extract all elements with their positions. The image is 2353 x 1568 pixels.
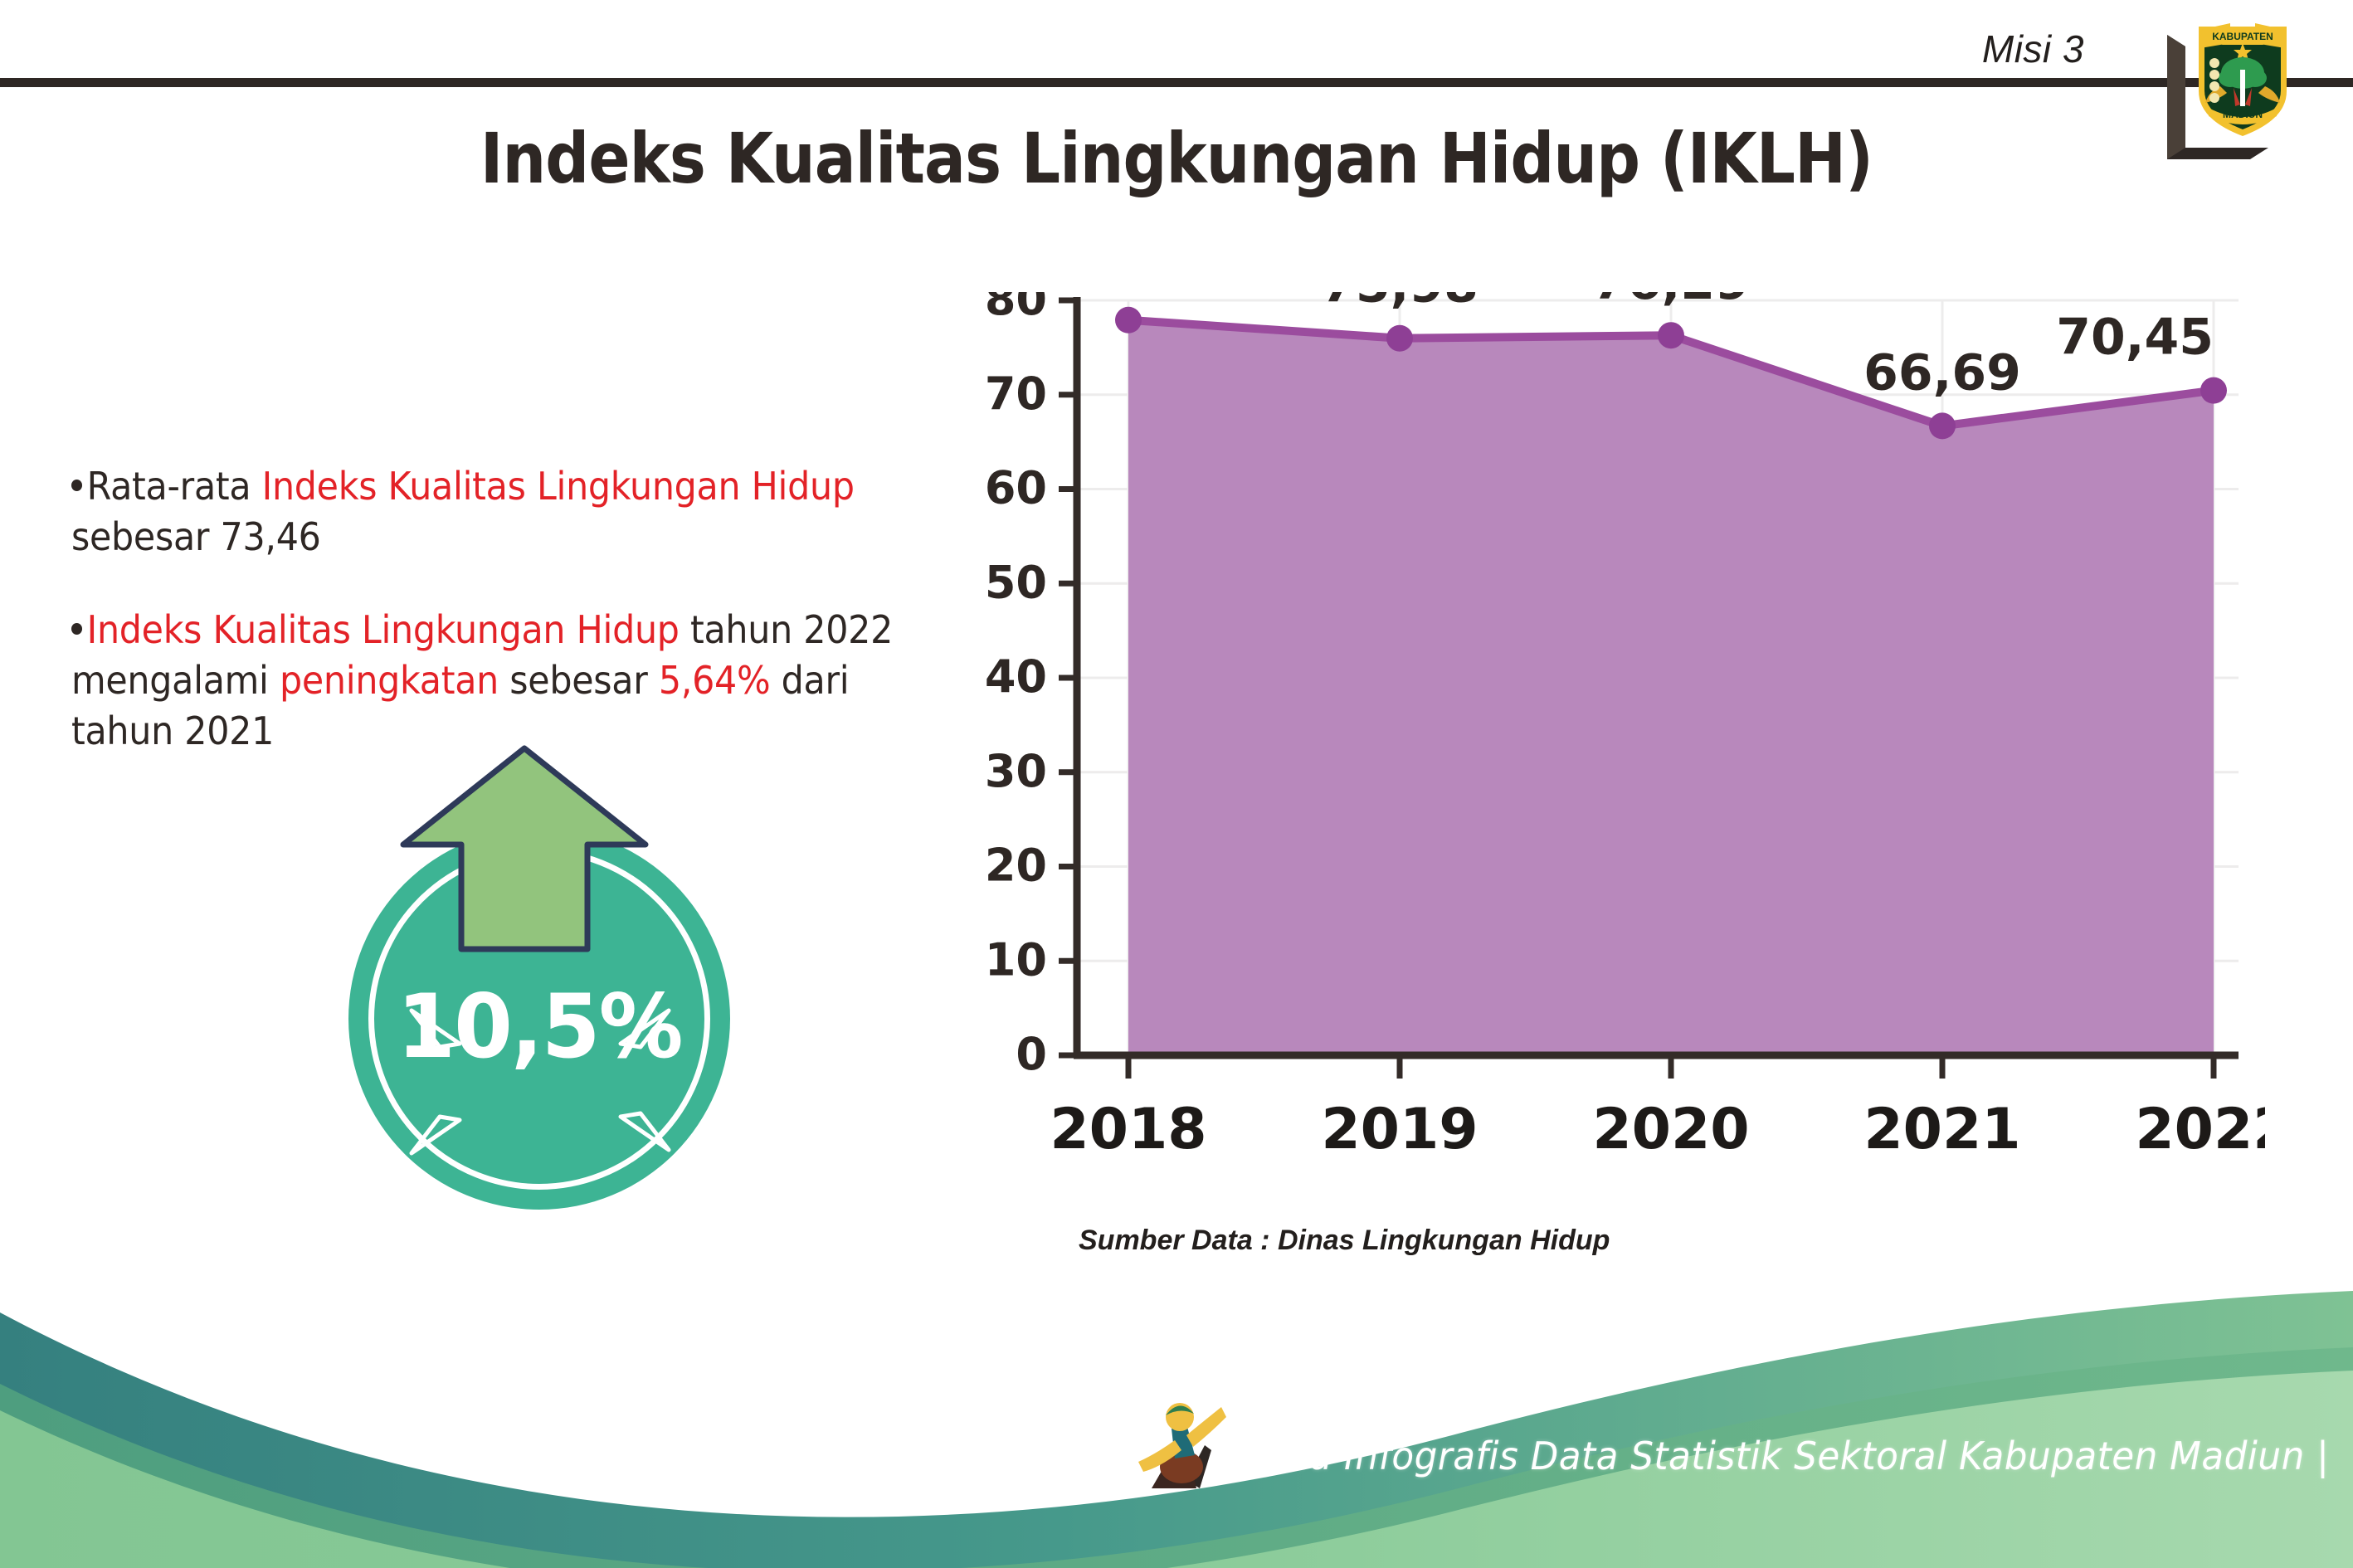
footer: Media Infografis Data Statistik Sektoral… xyxy=(0,1286,2353,1568)
statistics-figure-logo-icon xyxy=(1135,1390,1228,1508)
data-point-marker xyxy=(1115,307,1142,334)
data-label: 76,29 xyxy=(1592,292,1750,311)
bullet-text-segment: Indeks Kualitas Lingkungan Hidup xyxy=(87,607,680,652)
bullet-text-segment: 5,64% xyxy=(659,658,771,703)
x-axis-label: 2018 xyxy=(1050,1097,1206,1162)
bullet-text-segment: Indeks Kualitas Lingkungan Hidup xyxy=(262,464,855,509)
y-axis-label: 40 xyxy=(985,650,1047,703)
data-label: 70,45 xyxy=(2056,309,2214,367)
bullet-dot xyxy=(71,480,82,491)
bullet-text-segment: sebesar xyxy=(499,658,659,703)
y-axis-label: 70 xyxy=(985,368,1047,420)
y-axis-label: 20 xyxy=(985,840,1047,892)
bullet-item: Rata-rata Indeks Kualitas Lingkungan Hid… xyxy=(71,461,913,562)
bullet-item: Indeks Kualitas Lingkungan Hidup tahun 2… xyxy=(71,605,913,756)
data-label: 75,98 xyxy=(1321,292,1479,314)
x-axis-label: 2019 xyxy=(1321,1097,1478,1162)
misi-label: Misi 3 xyxy=(1982,27,2084,71)
bullet-dot xyxy=(71,623,82,635)
bullet-text-segment: peningkatan xyxy=(280,658,499,703)
x-axis-label: 2022 xyxy=(2135,1097,2265,1162)
up-arrow-icon xyxy=(400,745,649,952)
bullet-text-segment: Rata-rata xyxy=(87,464,262,509)
data-point-marker xyxy=(1658,322,1684,348)
y-axis-label: 80 xyxy=(985,292,1047,325)
data-point-marker xyxy=(2200,377,2227,404)
y-axis-label: 50 xyxy=(985,556,1047,608)
area-fill xyxy=(1128,320,2214,1055)
y-axis-label: 10 xyxy=(985,933,1047,986)
chart-canvas: 010203040506070802018201920202021202277,… xyxy=(971,292,2265,1188)
badge-marker-bottom-left-icon xyxy=(408,1113,463,1160)
y-axis-label: 0 xyxy=(1016,1028,1047,1080)
y-axis-label: 60 xyxy=(985,462,1047,514)
badge-marker-bottom-right-icon xyxy=(617,1110,672,1157)
iklh-area-chart: 010203040506070802018201920202021202277,… xyxy=(971,292,2265,1188)
x-axis-label: 2021 xyxy=(1863,1097,2020,1162)
data-label: 66,69 xyxy=(1863,343,2021,402)
source-note: Sumber Data : Dinas Lingkungan Hidup xyxy=(1079,1225,1610,1257)
x-axis-label: 2020 xyxy=(1592,1097,1749,1162)
page-title: Indeks Kualitas Lingkungan Hidup (IKLH) xyxy=(141,118,2212,199)
badge-percent-value: 10,5% xyxy=(356,976,723,1078)
emblem-bottom-text: MADIUN xyxy=(2223,109,2263,120)
growth-badge: 10,5% xyxy=(325,745,757,1210)
header-divider xyxy=(0,78,2353,87)
y-axis-label: 30 xyxy=(985,745,1047,797)
data-point-marker xyxy=(1929,412,1956,439)
data-label: 77,91 xyxy=(1128,292,1286,296)
footer-text: Media Infografis Data Statistik Sektoral… xyxy=(1221,1434,2329,1478)
bullet-text-segment: sebesar 73,46 xyxy=(71,514,321,559)
data-point-marker xyxy=(1386,325,1413,352)
emblem-top-text: KABUPATEN xyxy=(2212,31,2273,42)
